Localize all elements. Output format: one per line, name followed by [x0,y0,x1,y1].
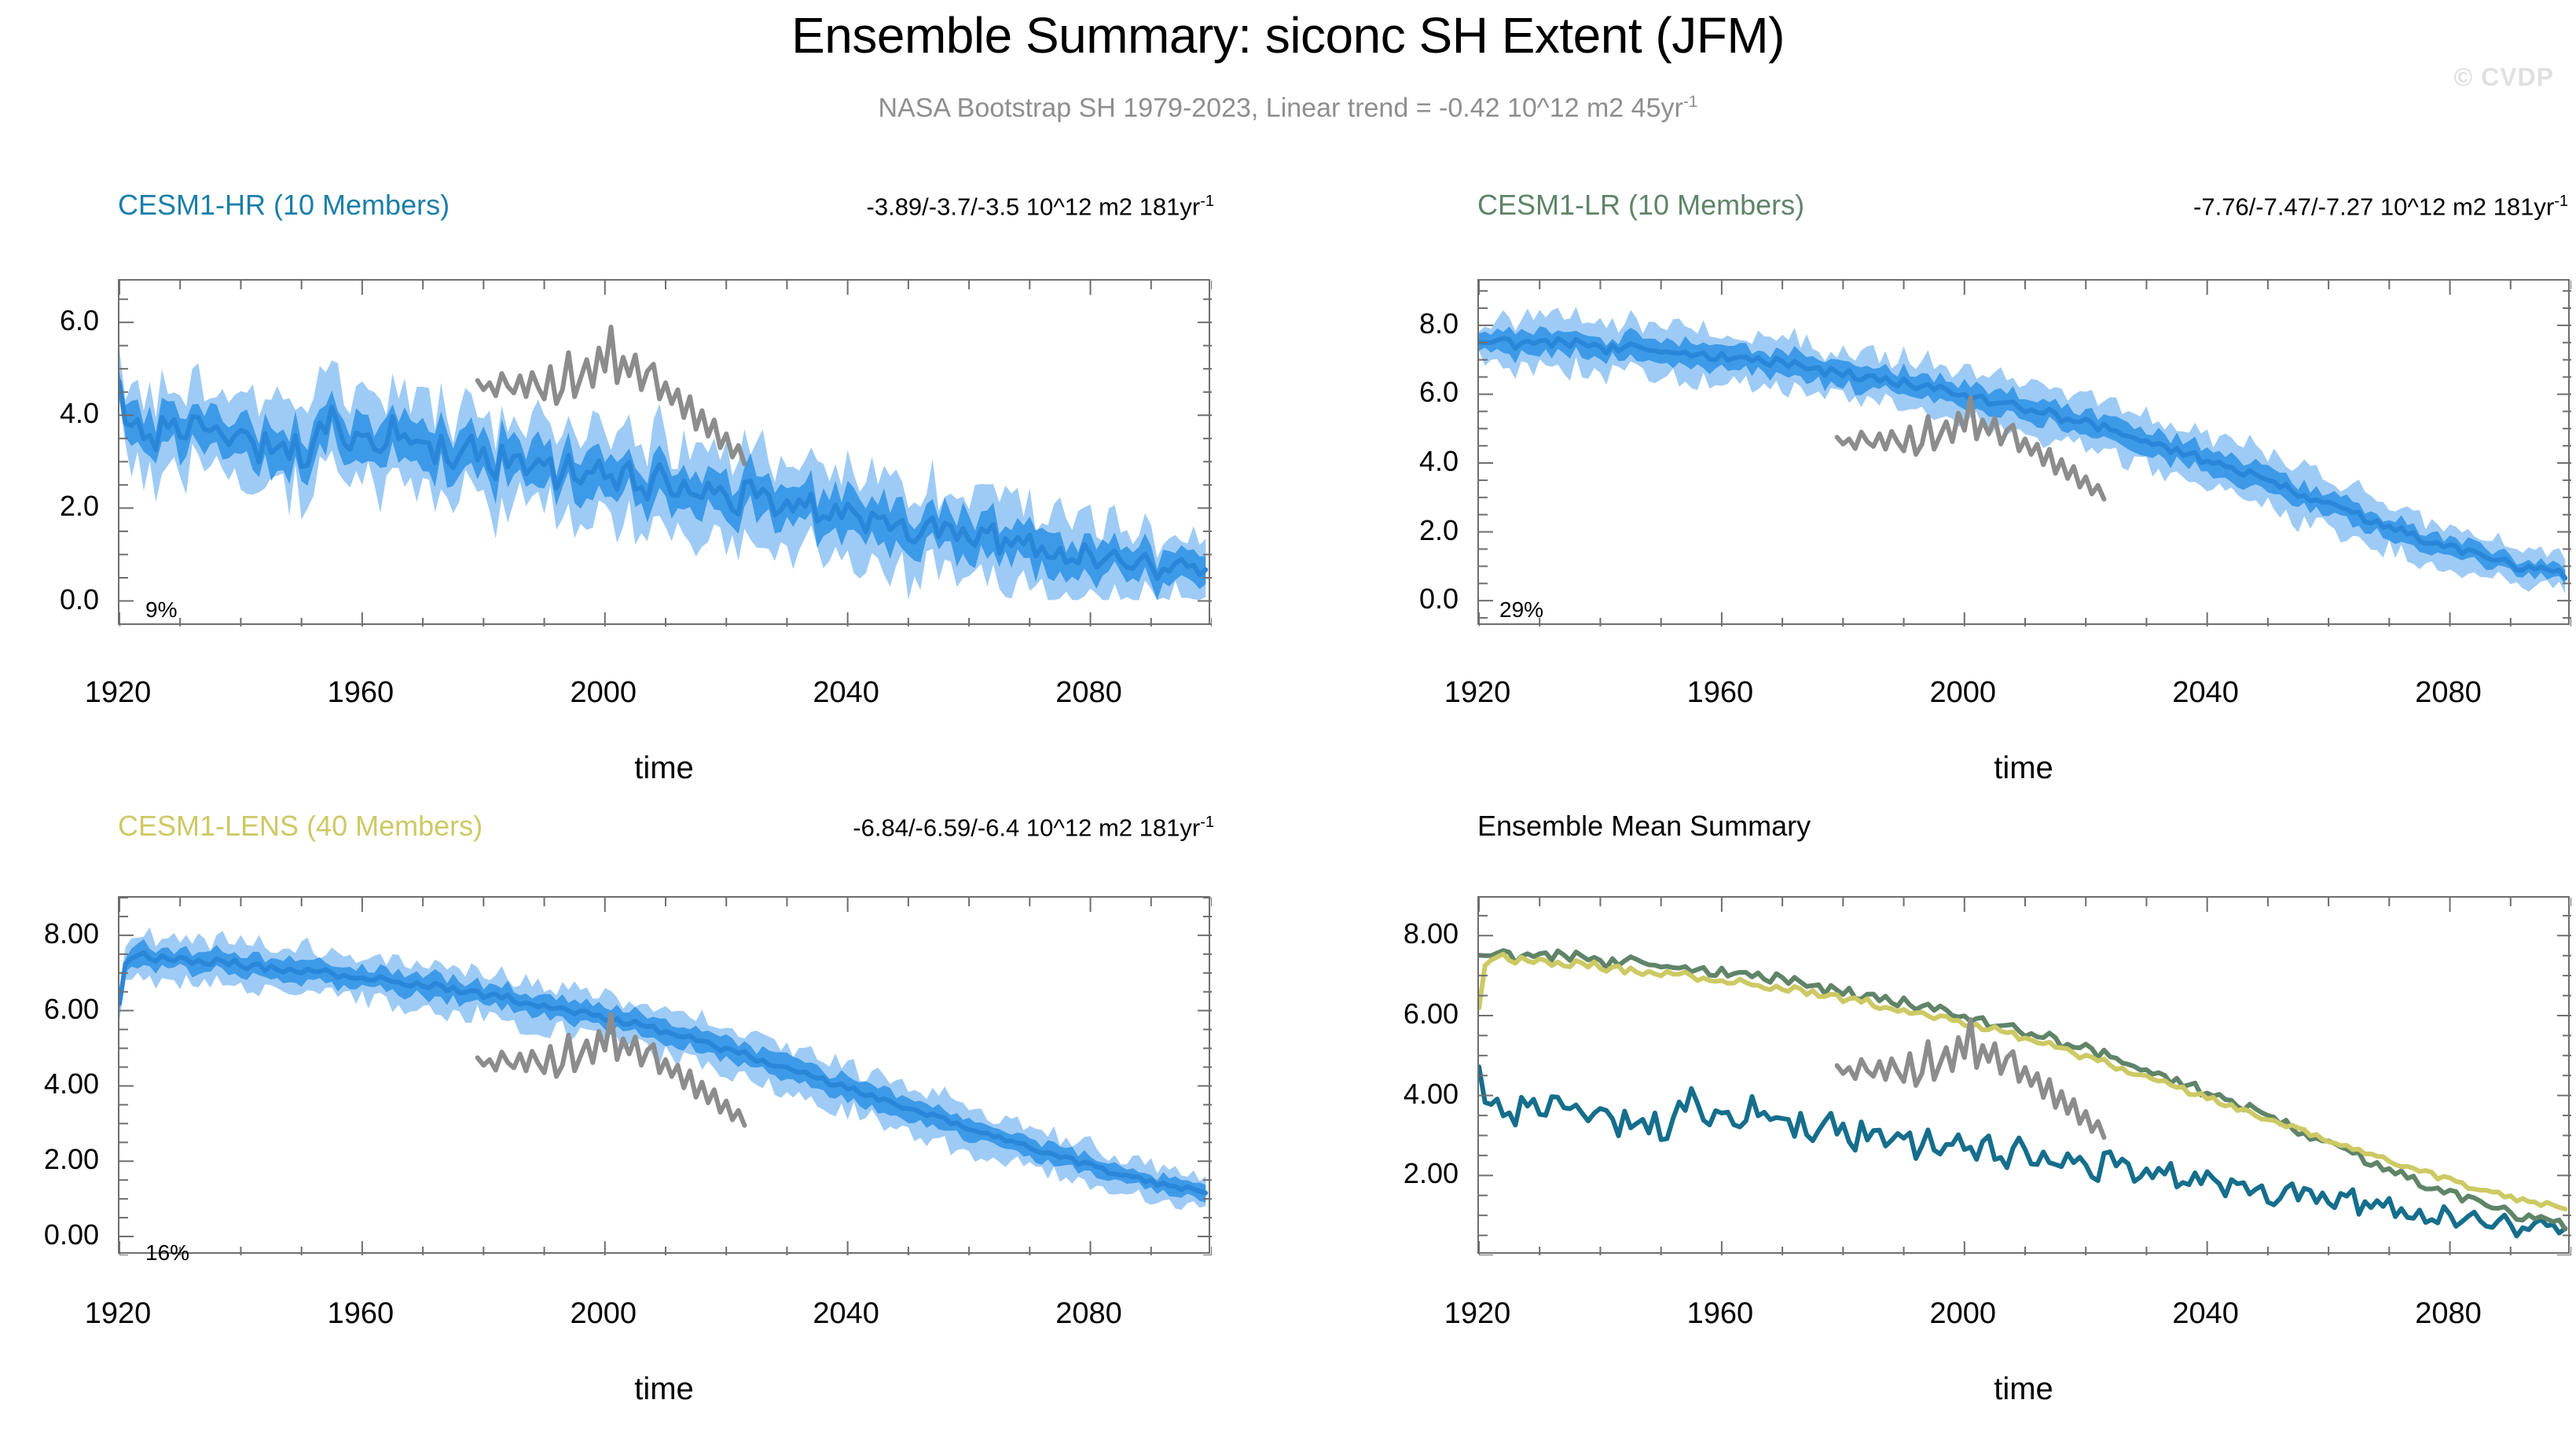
y-tick-label: 4.00 [1404,1078,1459,1111]
x-tick-label: 2000 [1929,1297,1996,1331]
x-tick-label: 2040 [2172,1297,2239,1331]
ensemble-mean-line-cesm1-lr [1479,950,2565,1229]
x-axis-title-ensemble-mean-summary: time [1477,1372,2570,1407]
x-tick-label: 2080 [2415,1297,2482,1331]
y-tick-label: 8.00 [1404,917,1459,950]
plot-area-ensemble-mean-summary [1477,896,2570,1254]
x-tick-label: 1920 [1444,1297,1511,1331]
observation-line [1837,1020,2104,1137]
y-tick-label: 2.00 [1404,1157,1459,1190]
y-axis-ticks [1479,916,2571,1255]
panel-ensemble-mean-summary: Ensemble Mean Summary2.004.006.008.00192… [0,0,2576,1455]
x-tick-label: 1960 [1687,1297,1754,1331]
x-axis-ticks [1479,898,2571,1255]
ensemble-mean-line-cesm1-hr [1479,1067,2565,1236]
plot-svg-ensemble-mean-summary [1479,898,2571,1255]
panel-title-ensemble-mean-summary: Ensemble Mean Summary [1477,810,1811,843]
y-tick-label: 6.00 [1404,998,1459,1031]
